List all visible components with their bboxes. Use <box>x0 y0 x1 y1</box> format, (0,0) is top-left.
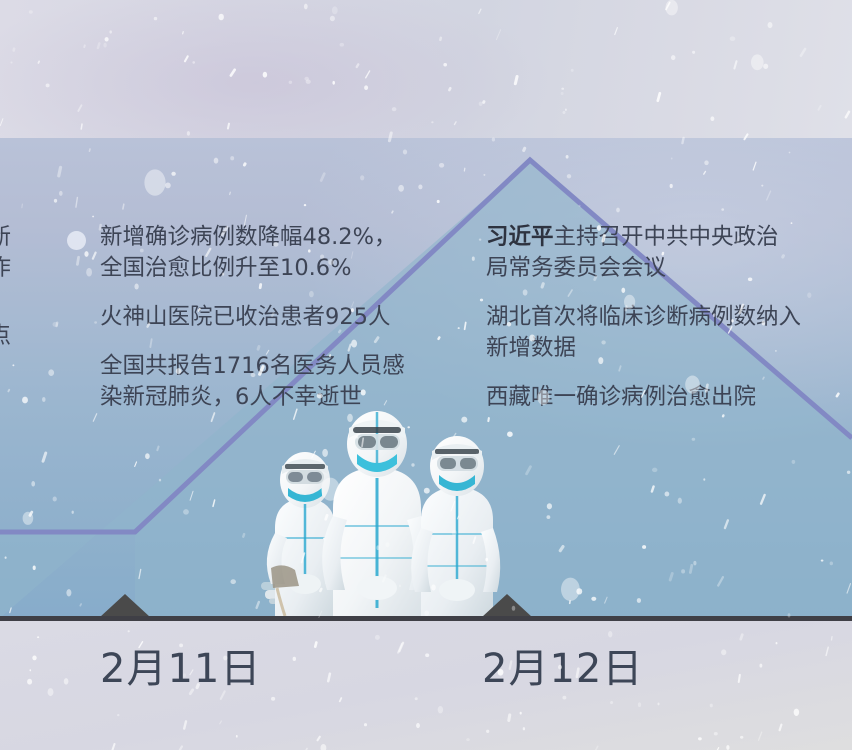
right-item-2: 西藏唯一确诊病例治愈出院 <box>486 382 838 413</box>
worker-right <box>411 436 500 620</box>
right-text-column: 习近平主持召开中共中央政治 局常务委员会会议 湖北首次将临床诊断病例数纳入 新增… <box>486 222 838 431</box>
edge-line-0: 导新 工作 <box>0 222 46 284</box>
left-item-1: 火神山医院已收治患者925人 <box>100 302 450 333</box>
right-item-1-rest: 湖北首次将临床诊断病例数纳入 新增数据 <box>486 304 801 361</box>
date-label-1: 2月12日 <box>482 636 643 694</box>
right-item-0-lead: 习近平 <box>486 224 554 250</box>
date-label-0: 2月11日 <box>100 636 261 694</box>
left-item-0: 新增确诊病例数降幅48.2%， 全国治愈比例升至10.6% <box>100 222 450 284</box>
bullet-dot-icon <box>67 231 86 250</box>
timeline-marker-1 <box>482 594 532 617</box>
timeline-marker-0 <box>100 594 150 617</box>
right-item-1: 湖北首次将临床诊断病例数纳入 新增数据 <box>486 302 838 364</box>
left-text-column: 新增确诊病例数降幅48.2%， 全国治愈比例升至10.6% 火神山医院已收治患者… <box>100 222 450 431</box>
sky-background <box>0 0 852 138</box>
left-item-2: 全国共报告1716名医务人员感 染新冠肺炎，6人不幸逝世 <box>100 351 450 413</box>
edge-text-column: 导新 工作 重点 <box>0 222 46 370</box>
edge-line-1: 重点 <box>0 321 46 352</box>
right-item-2-rest: 西藏唯一确诊病例治愈出院 <box>486 384 756 410</box>
medical-workers-photo <box>255 408 505 620</box>
infographic-stage: 2月11日 2月12日 导新 工作 重点 新增确诊病例数降幅48.2%， 全国治… <box>0 0 852 750</box>
right-item-0: 习近平主持召开中共中央政治 局常务委员会会议 <box>486 222 838 284</box>
